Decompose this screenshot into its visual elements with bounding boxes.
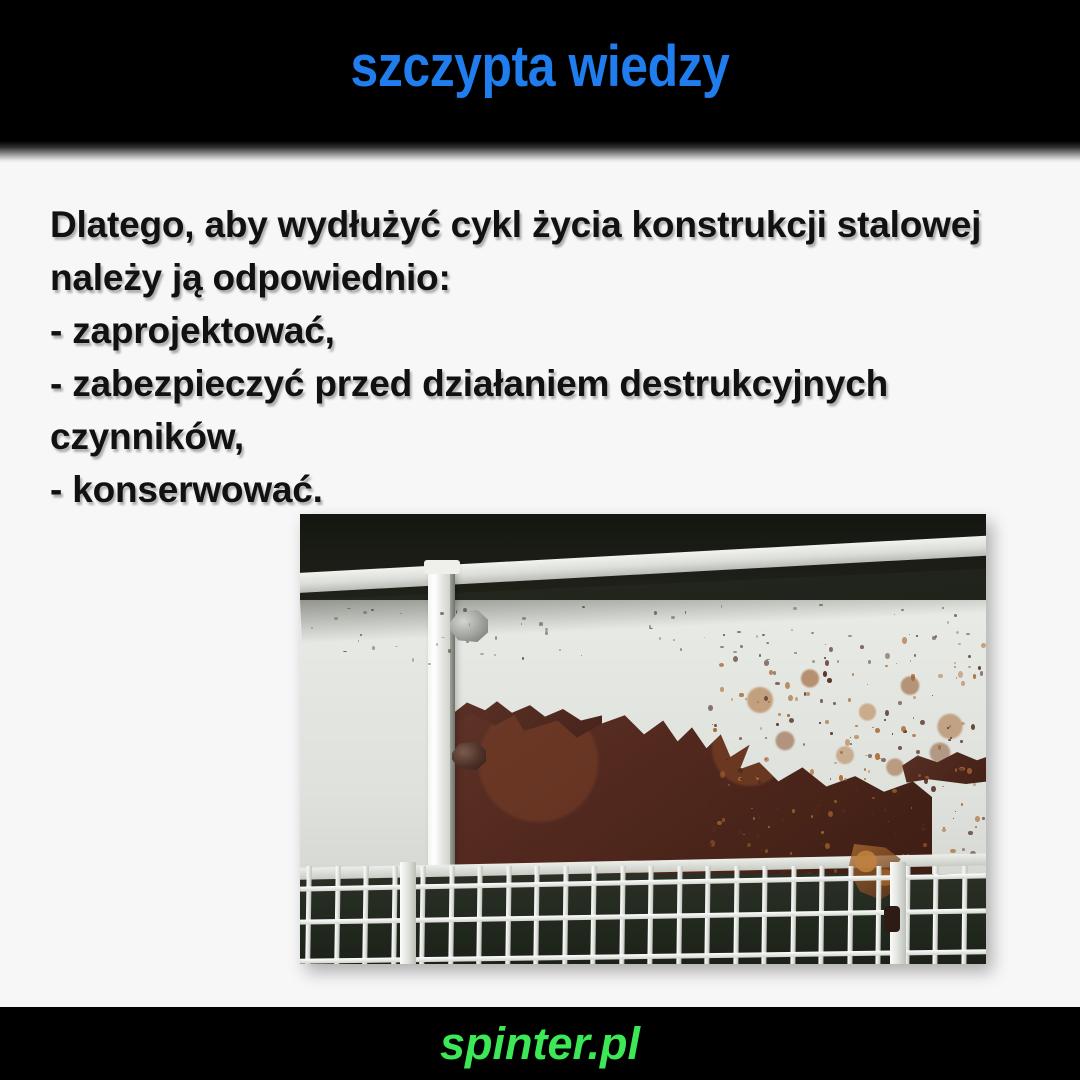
rust-speck	[850, 737, 851, 738]
rust-speck	[860, 645, 864, 649]
rust-speck	[827, 678, 832, 683]
rust-speck	[825, 660, 829, 665]
rust-speck	[792, 809, 796, 813]
rust-speck	[708, 705, 713, 711]
grime-speck	[654, 611, 657, 615]
grime-speck	[737, 631, 740, 632]
rust-speck	[918, 774, 921, 778]
grime-speck	[958, 643, 960, 645]
photo-post-edge	[450, 566, 455, 894]
footer-bar: spinter.pl	[0, 1007, 1080, 1080]
rust-speck	[901, 726, 906, 732]
rust-speck	[803, 743, 805, 746]
grime-speck	[673, 639, 675, 641]
rust-speck	[871, 812, 874, 816]
rust-speck	[765, 848, 767, 850]
grime-speck	[650, 628, 653, 629]
rust-speck	[911, 807, 912, 808]
grime-speck	[935, 635, 937, 638]
header-gradient-divider	[0, 141, 1080, 163]
grime-speck	[942, 607, 944, 609]
grime-speck	[767, 642, 769, 644]
rust-speck	[959, 768, 964, 772]
rust-speck	[714, 724, 717, 727]
rust-speck	[789, 718, 794, 723]
rust-speck	[888, 821, 889, 822]
grime-speck	[334, 617, 338, 620]
body-text-block: Dlatego, aby wydłużyć cykl życia konstru…	[50, 198, 1050, 516]
grime-speck	[954, 614, 956, 617]
rust-speck	[875, 728, 880, 733]
fence-wire-vertical	[305, 866, 312, 964]
rust-speck	[898, 746, 902, 750]
rust-speck	[921, 827, 926, 831]
rust-speck	[765, 737, 767, 739]
grime-speck	[812, 660, 815, 663]
rust-speck	[743, 834, 745, 835]
rust-speck	[844, 841, 846, 843]
rust-speck	[931, 786, 936, 793]
rust-speck	[728, 784, 729, 786]
rust-speck	[967, 768, 972, 774]
page-title: szczypta wiedzy	[76, 38, 1005, 96]
rust-speck	[733, 656, 738, 662]
header-bar: szczypta wiedzy	[0, 0, 1080, 141]
rust-speck	[920, 720, 925, 726]
rust-speck	[913, 696, 917, 699]
rust-speck	[864, 778, 866, 780]
rust-speck	[902, 637, 907, 644]
rust-speck	[810, 769, 815, 775]
rust-speck	[973, 783, 976, 786]
rust-speck	[788, 695, 792, 701]
rust-speck	[755, 834, 760, 838]
fence-clip	[884, 906, 900, 932]
rust-speck	[776, 723, 779, 726]
grime-speck	[671, 616, 674, 619]
body-line-6: - konserwować.	[50, 463, 1050, 516]
rust-speck	[823, 671, 827, 676]
rust-speck	[708, 843, 711, 846]
rust-speck	[820, 699, 823, 703]
brand-logo-text: spinter.pl	[0, 1021, 1080, 1066]
grime-speck	[522, 657, 524, 660]
photo-post-cap	[424, 560, 460, 574]
rust-speck	[833, 702, 835, 705]
grime-speck	[793, 607, 796, 610]
grime-speck	[659, 637, 662, 639]
body-line-5: czynników,	[50, 410, 1050, 463]
photo-frame	[300, 514, 986, 964]
rust-speck	[968, 831, 973, 835]
rust-speck	[954, 666, 955, 668]
rust-speck	[898, 701, 903, 705]
rust-speck	[896, 663, 897, 664]
rust-speck	[942, 786, 944, 787]
grime-speck	[372, 646, 375, 650]
rust-speck	[975, 816, 979, 822]
rust-speck	[723, 634, 725, 636]
rust-speck	[844, 778, 847, 781]
rust-speck	[892, 789, 897, 793]
fence-wire-vertical	[334, 866, 341, 964]
photo-wire-fence	[300, 866, 986, 964]
rust-speck	[811, 815, 813, 818]
grime-speck	[539, 622, 542, 626]
rust-speck	[819, 722, 820, 723]
body-line-1: Dlatego, aby wydłużyć cykl życia konstru…	[50, 198, 1050, 251]
grime-speck	[791, 629, 793, 632]
rust-speck	[778, 713, 781, 716]
grime-speck	[311, 627, 313, 629]
rust-speck	[765, 849, 768, 853]
rust-speck	[764, 660, 769, 665]
fence-wire-vertical	[476, 866, 482, 964]
fence-wire-vertical	[362, 866, 368, 964]
rust-speck	[922, 824, 925, 826]
rust-speck	[834, 800, 836, 803]
rust-speck	[938, 674, 942, 678]
fence-wire-vertical	[391, 866, 397, 964]
corroded-steel-photo	[300, 514, 986, 964]
rust-speck	[758, 780, 761, 784]
rust-speck	[868, 754, 872, 758]
fence-wire-vertical	[448, 866, 454, 964]
rust-speck	[954, 662, 956, 663]
grime-speck	[545, 631, 547, 634]
fence-wire-vertical	[505, 866, 511, 964]
grime-speck	[522, 617, 526, 619]
rust-speck	[958, 671, 963, 678]
rust-speck	[955, 768, 957, 771]
grime-speck	[894, 614, 895, 615]
grime-speck	[947, 621, 949, 624]
rust-speck	[821, 831, 824, 834]
rust-speck	[720, 771, 725, 778]
body-line-3: - zaprojektować,	[50, 304, 1050, 357]
rust-speck	[702, 804, 707, 808]
grime-speck	[581, 655, 582, 656]
rust-speck	[825, 720, 828, 724]
grime-speck	[819, 604, 823, 605]
rust-speck	[947, 727, 948, 729]
body-line-2: należy ją odpowiednio:	[50, 251, 1050, 304]
grime-speck	[848, 635, 852, 637]
rust-speck	[739, 737, 742, 740]
rust-speck	[713, 728, 716, 732]
grime-speck	[448, 649, 451, 652]
rust-speck	[917, 755, 919, 756]
grime-speck	[794, 652, 798, 653]
grime-speck	[762, 634, 765, 636]
rust-speck	[753, 817, 755, 820]
body-line-4: - zabezpieczyć przed działaniem destrukc…	[50, 357, 1050, 410]
rust-speck	[790, 852, 792, 854]
grime-speck	[901, 609, 904, 611]
rust-speck	[855, 725, 857, 727]
grime-speck	[358, 640, 359, 642]
grime-speck	[441, 637, 445, 638]
rust-speck	[740, 778, 742, 780]
grime-speck	[363, 611, 366, 614]
fence-wire-vertical	[419, 866, 425, 964]
rust-speck	[855, 789, 858, 792]
rust-speck	[756, 777, 759, 780]
grime-speck	[766, 659, 770, 660]
grime-speck	[740, 645, 743, 648]
rust-speck	[968, 666, 971, 668]
rust-speck	[775, 682, 780, 685]
rust-speck	[854, 735, 859, 740]
rust-speck	[738, 830, 743, 834]
rust-speck	[759, 654, 761, 656]
fence-post	[400, 862, 416, 964]
rust-speck	[968, 655, 971, 658]
rust-speck	[782, 819, 785, 822]
rust-speck	[841, 809, 845, 813]
rust-speck	[720, 687, 724, 692]
rust-speck	[722, 818, 725, 821]
slide-canvas: szczypta wiedzy Dlatego, aby wydłużyć cy…	[0, 0, 1080, 1080]
grime-speck	[480, 653, 484, 655]
